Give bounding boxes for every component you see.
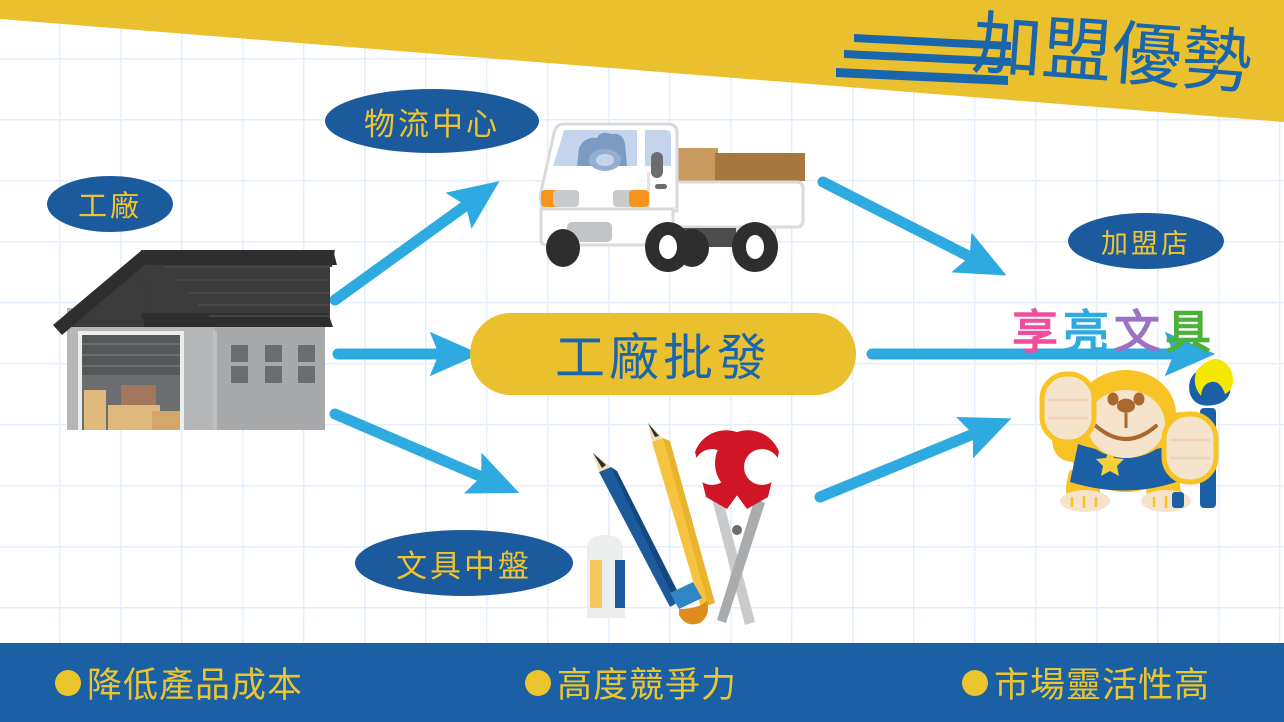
- benefit-label-2: 市場靈活性高: [994, 657, 1210, 708]
- node-label-franchise-text: 加盟店: [1101, 222, 1191, 261]
- benefit-item-1: 高度競爭力: [525, 657, 737, 708]
- warehouse-building-illustration: [45, 245, 345, 440]
- center-node-factory-wholesale[interactable]: 工廠批發: [470, 313, 856, 395]
- left-fist: [1042, 374, 1094, 442]
- node-label-franchise[interactable]: 加盟店: [1068, 213, 1224, 269]
- delivery-truck-illustration: [505, 110, 805, 275]
- center-node-label: 工廠批發: [555, 318, 771, 390]
- bullet-icon: [55, 670, 81, 696]
- bullet-icon: [962, 670, 988, 696]
- eraser-icon: [587, 535, 625, 618]
- page-title: 加盟優勢: [970, 8, 1254, 98]
- node-label-logistics[interactable]: 物流中心: [325, 89, 539, 153]
- node-label-factory[interactable]: 工廠: [47, 176, 173, 232]
- brand-char-3: 具: [1165, 296, 1216, 362]
- brand-logo-text: 享亮文具: [1012, 296, 1216, 362]
- benefit-item-0: 降低產品成本: [55, 657, 303, 708]
- arrow-logistics-to-franchise: [823, 182, 984, 264]
- node-label-wholesaler-text: 文具中盤: [396, 541, 532, 586]
- stationery-items-illustration: [560, 415, 845, 630]
- gorilla-mascot-illustration: [1022, 352, 1257, 517]
- arrow-factory-to-logistics: [335, 196, 479, 300]
- benefit-item-2: 市場靈活性高: [962, 657, 1210, 708]
- node-label-factory-text: 工廠: [78, 183, 142, 225]
- bullet-icon: [525, 670, 551, 696]
- brand-char-0: 享: [1012, 296, 1063, 362]
- node-label-wholesaler[interactable]: 文具中盤: [355, 530, 573, 596]
- brand-char-2: 文: [1114, 296, 1165, 362]
- arrow-factory-to-wholesaler: [335, 414, 496, 483]
- benefit-label-0: 降低產品成本: [87, 657, 303, 708]
- right-fist: [1164, 414, 1216, 482]
- node-label-logistics-text: 物流中心: [364, 99, 500, 144]
- benefits-bar: 降低產品成本 高度競爭力 市場靈活性高: [0, 643, 1284, 722]
- benefit-label-1: 高度競爭力: [557, 657, 737, 708]
- brand-char-1: 亮: [1063, 296, 1114, 362]
- infographic-canvas: 享亮文具: [0, 0, 1284, 722]
- arrow-wholesaler-to-franchise: [820, 428, 988, 497]
